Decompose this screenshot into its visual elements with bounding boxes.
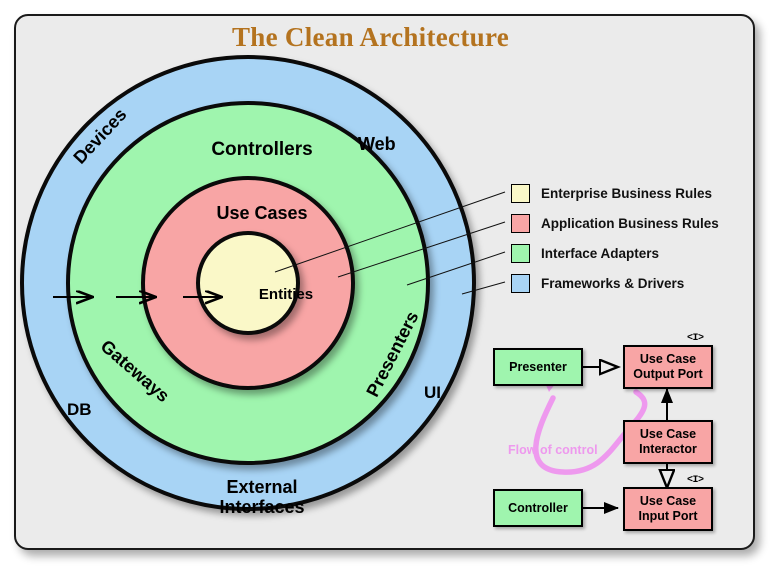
flow-box-label: Use Case Input Port [638,494,697,524]
flow-box-line1: Use Case [640,494,696,508]
flow-of-control-label: Flow of control [508,443,598,457]
legend-swatch-application-business-rules [511,214,530,233]
flow-box-line2: Output Port [633,367,702,381]
legend-swatch-enterprise-business-rules [511,184,530,203]
legend-label: Interface Adapters [541,246,659,261]
flow-box-controller: Controller [493,489,583,527]
flow-box-label: Controller [508,501,568,516]
clean-architecture-diagram: The Clean Architecture Controllers Use C… [0,0,772,567]
legend-item: Application Business Rules [511,210,719,236]
flow-box-label: Presenter [509,360,567,375]
flow-box-line2: Input Port [638,509,697,523]
flow-box-line2: Interactor [639,442,697,456]
flow-box-use-case-input-port: Use Case Input Port [623,487,713,531]
flow-box-use-case-interactor: Use Case Interactor [623,420,713,464]
flow-box-line1: Use Case [640,427,696,441]
legend-swatch-interface-adapters [511,244,530,263]
legend-label: Frameworks & Drivers [541,276,684,291]
interface-marker-output-port: <I> [687,333,704,344]
legend-swatch-frameworks-drivers [511,274,530,293]
flow-box-line1: Use Case [640,352,696,366]
flow-box-use-case-output-port: Use Case Output Port [623,345,713,389]
legend: Enterprise Business Rules Application Bu… [511,180,719,300]
flow-box-presenter: Presenter [493,348,583,386]
interface-marker-input-port: <I> [687,475,704,486]
flow-box-label: Use Case Output Port [633,352,702,382]
flow-box-label: Use Case Interactor [639,427,697,457]
legend-item: Interface Adapters [511,240,719,266]
legend-label: Enterprise Business Rules [541,186,712,201]
legend-item: Enterprise Business Rules [511,180,719,206]
legend-item: Frameworks & Drivers [511,270,719,296]
legend-label: Application Business Rules [541,216,719,231]
